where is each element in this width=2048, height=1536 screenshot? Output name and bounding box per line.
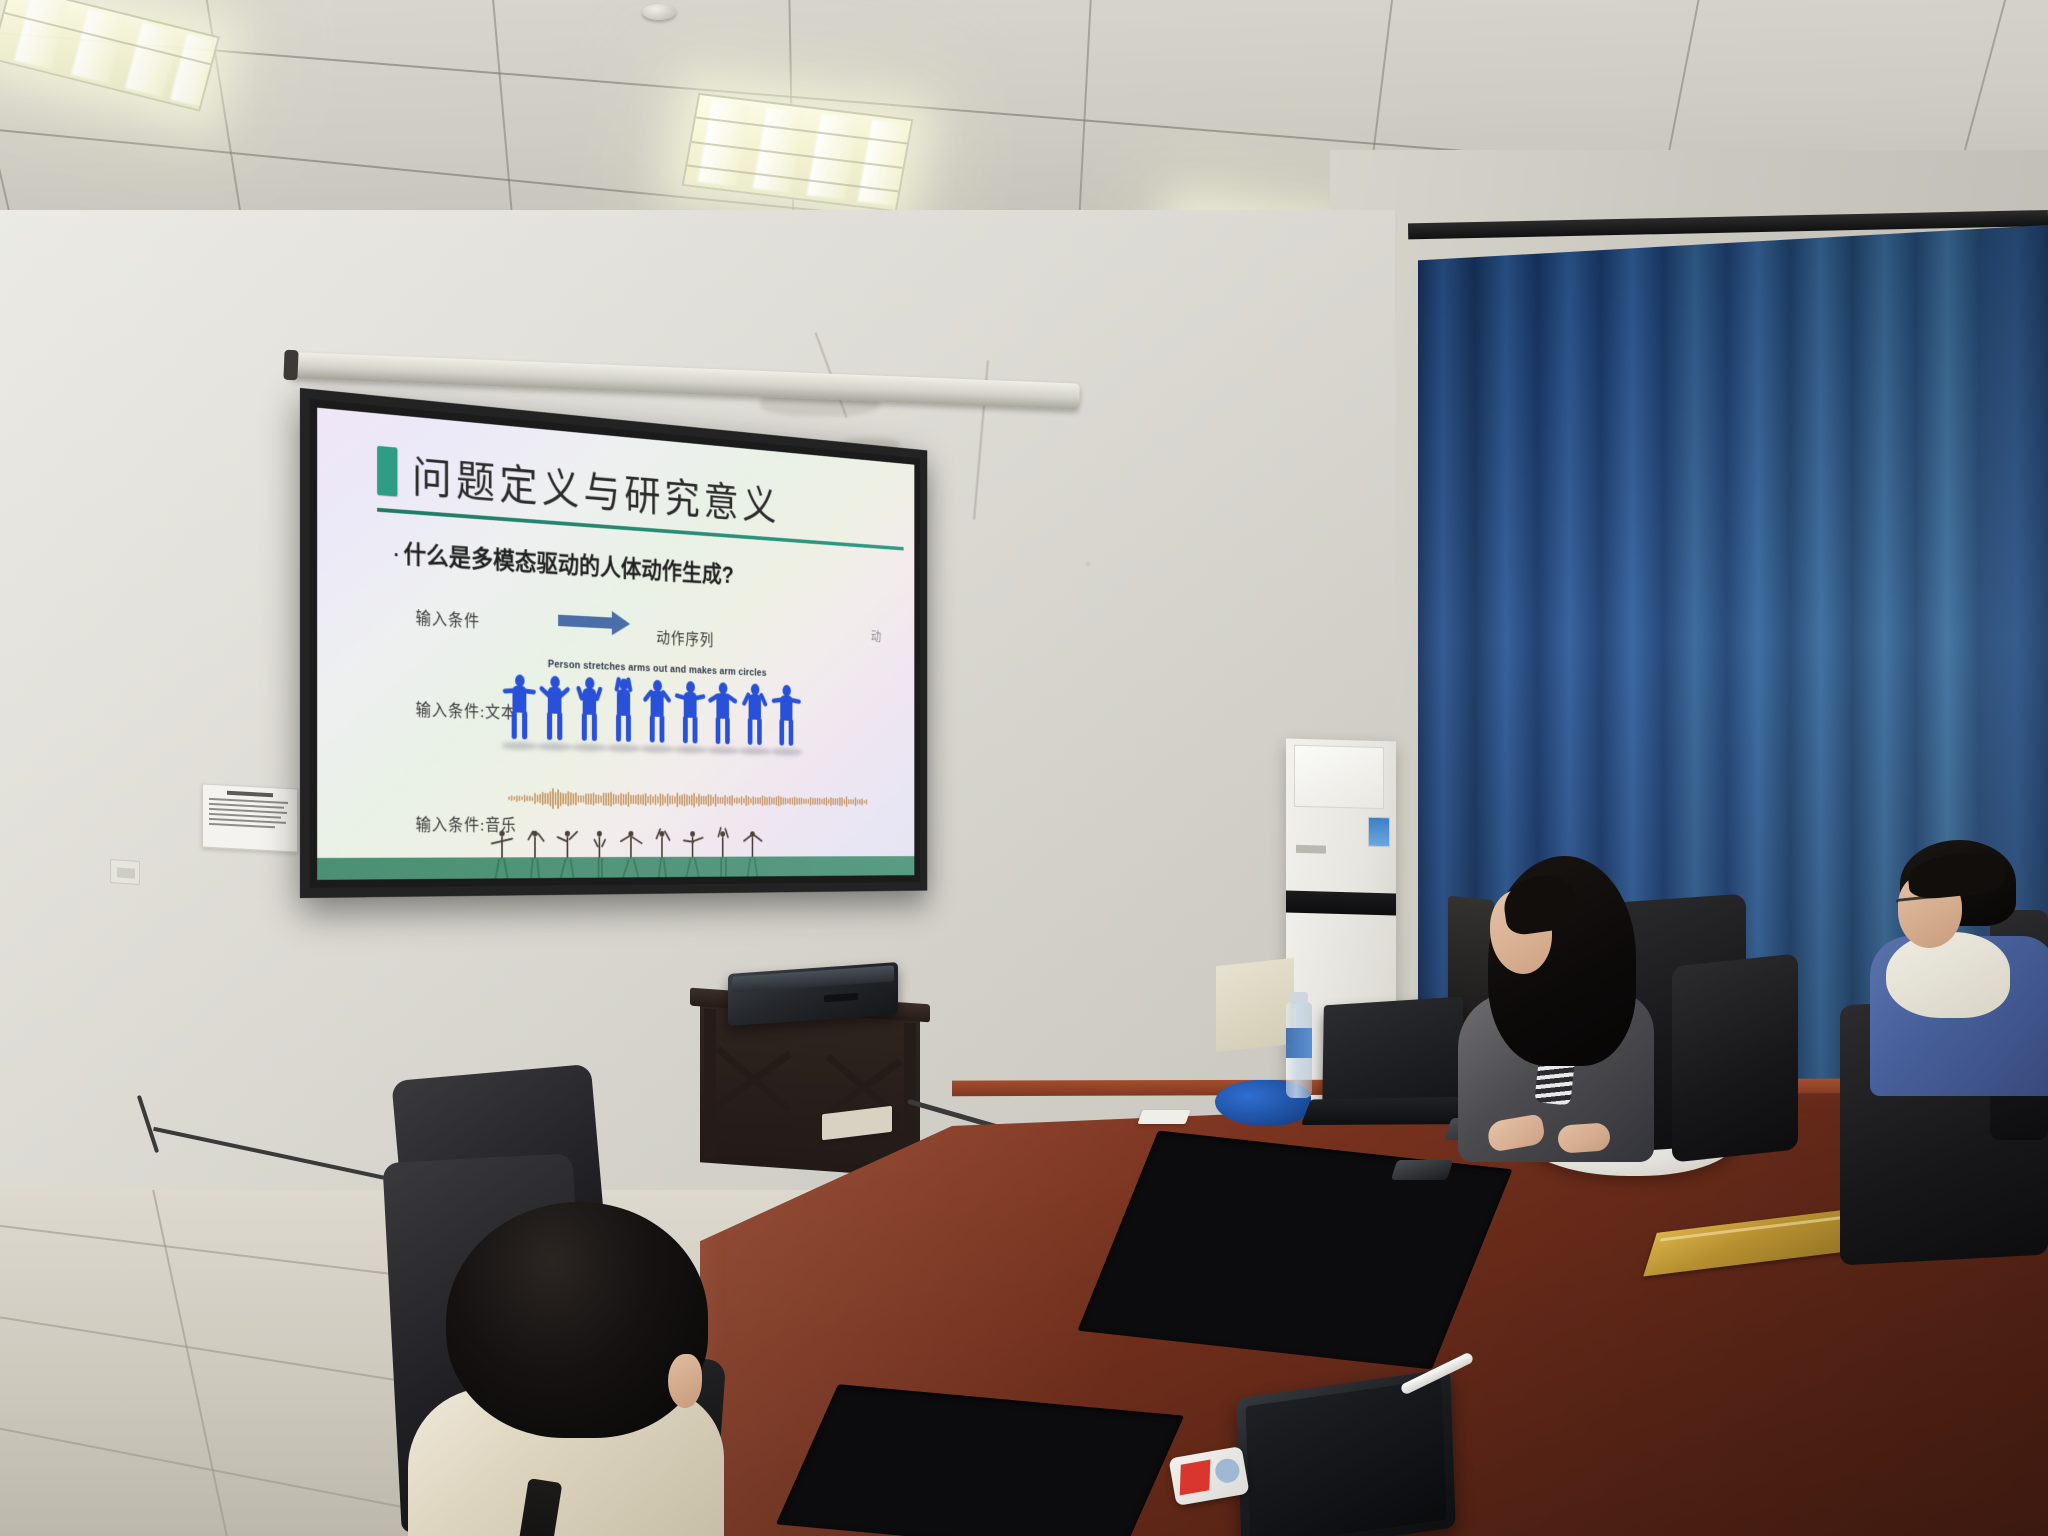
slide-surface: 问题定义与研究意义 ·什么是多模态驱动的人体动作生成? 输入条件 动作序列 动 … xyxy=(317,408,914,880)
projection-screen: 问题定义与研究意义 ·什么是多模态驱动的人体动作生成? 输入条件 动作序列 动 … xyxy=(300,388,927,898)
slide-footer-bar xyxy=(317,856,914,880)
audio-waveform xyxy=(508,771,867,826)
slide-title: 问题定义与研究意义 xyxy=(412,442,780,532)
text-modality-caption: Person stretches arms out and makes arm … xyxy=(548,659,767,679)
title-accent-bar xyxy=(377,446,397,497)
flow-diagram: 输入条件 动作序列 动 xyxy=(345,593,892,658)
presenter-hand-2 xyxy=(1557,1122,1611,1154)
office-chair-spare[interactable] xyxy=(1672,953,1798,1162)
bullet-dot: · xyxy=(394,544,400,566)
water-bottle xyxy=(1286,1002,1312,1098)
projector-stand xyxy=(700,1002,920,1177)
human-figure-sequence xyxy=(505,674,800,751)
wall-notice-sign xyxy=(202,783,298,852)
human-figure xyxy=(742,683,768,750)
paper-note xyxy=(1137,1110,1190,1124)
human-figure xyxy=(609,678,637,748)
smoke-detector-icon xyxy=(642,4,676,20)
attendee-front-hair xyxy=(446,1202,708,1438)
human-figure xyxy=(540,675,569,746)
slide-bullet-text: ·什么是多模态驱动的人体动作生成? xyxy=(394,534,893,600)
laptop[interactable] xyxy=(1322,997,1464,1106)
flow-corner-mark: 动 xyxy=(871,627,881,645)
tablet[interactable] xyxy=(1236,1369,1455,1536)
modality-row-text: 输入条件:文本 Person stretches arms out and ma… xyxy=(345,648,892,767)
attendee-front-ear xyxy=(668,1354,702,1408)
human-figure xyxy=(709,682,736,750)
person-presenter-woman xyxy=(1452,856,1682,1156)
ac-energy-label xyxy=(1368,817,1390,848)
human-figure xyxy=(643,679,671,748)
arrow-right-icon xyxy=(558,615,613,629)
flow-output-label: 动作序列 xyxy=(656,624,714,650)
attendee-right-hood xyxy=(1886,932,2010,1018)
human-figure xyxy=(773,684,799,751)
wall-power-outlet[interactable] xyxy=(110,859,140,885)
ac-display-panel[interactable] xyxy=(1286,891,1396,916)
text-modality-label: 输入条件:文本 xyxy=(416,696,517,723)
person-attendee-front xyxy=(424,1202,724,1536)
human-figure xyxy=(677,681,704,750)
bullet-label: 什么是多模态驱动的人体动作生成? xyxy=(403,541,733,589)
slide-content: 问题定义与研究意义 ·什么是多模态驱动的人体动作生成? 输入条件 动作序列 动 … xyxy=(317,408,914,880)
beige-board xyxy=(1216,958,1294,1052)
flow-input-label: 输入条件 xyxy=(416,604,480,631)
slide-title-row: 问题定义与研究意义 xyxy=(377,439,893,541)
device-block xyxy=(1391,1160,1453,1180)
human-figure xyxy=(575,677,604,747)
human-figure xyxy=(505,674,534,745)
person-attendee-right xyxy=(1878,840,2048,1090)
meeting-room-photo: 问题定义与研究意义 ·什么是多模态驱动的人体动作生成? 输入条件 动作序列 动 … xyxy=(0,0,2048,1536)
